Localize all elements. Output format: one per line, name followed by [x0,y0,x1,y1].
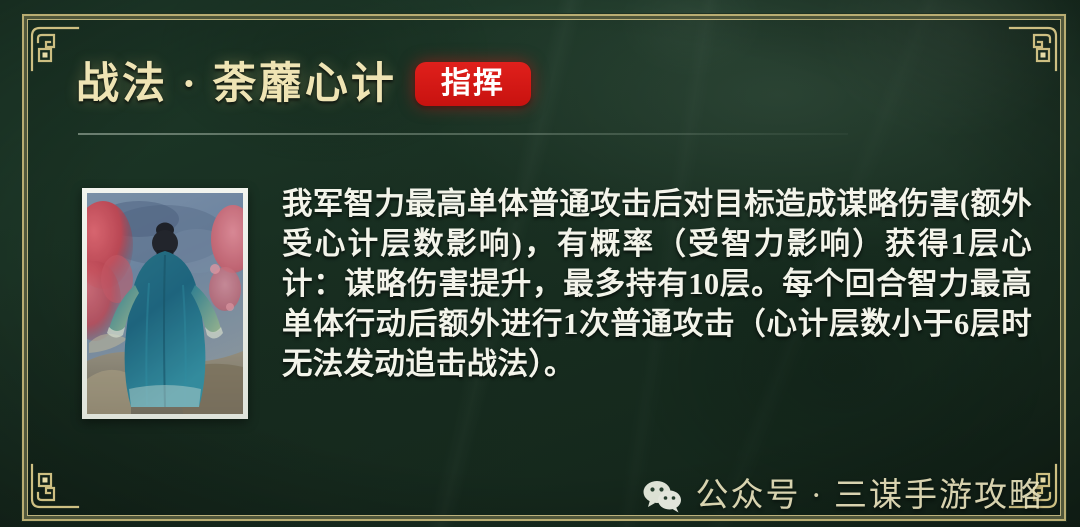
wechat-icon [642,479,684,513]
card-body: 我军智力最高单体普通攻击后对目标造成谋略伤害(额外受心计层数影响)，有概率（受智… [82,188,1032,419]
skill-card-screen: 战法 · 荼蘼心计 指挥 [0,0,1080,527]
hero-portrait [87,193,243,414]
skill-description: 我军智力最高单体普通攻击后对目标造成谋略伤害(额外受心计层数影响)，有概率（受智… [282,184,1032,384]
portrait-frame [82,188,248,419]
skill-type-badge: 指挥 [415,62,531,106]
skill-title: 战法 · 荼蘼心计 [76,63,397,106]
title-divider [78,133,848,135]
watermark: 公众号 · 三谋手游攻略 [642,479,1045,513]
card-header: 战法 · 荼蘼心计 指挥 [76,62,531,106]
watermark-text: 公众号 · 三谋手游攻略 [696,480,1045,513]
